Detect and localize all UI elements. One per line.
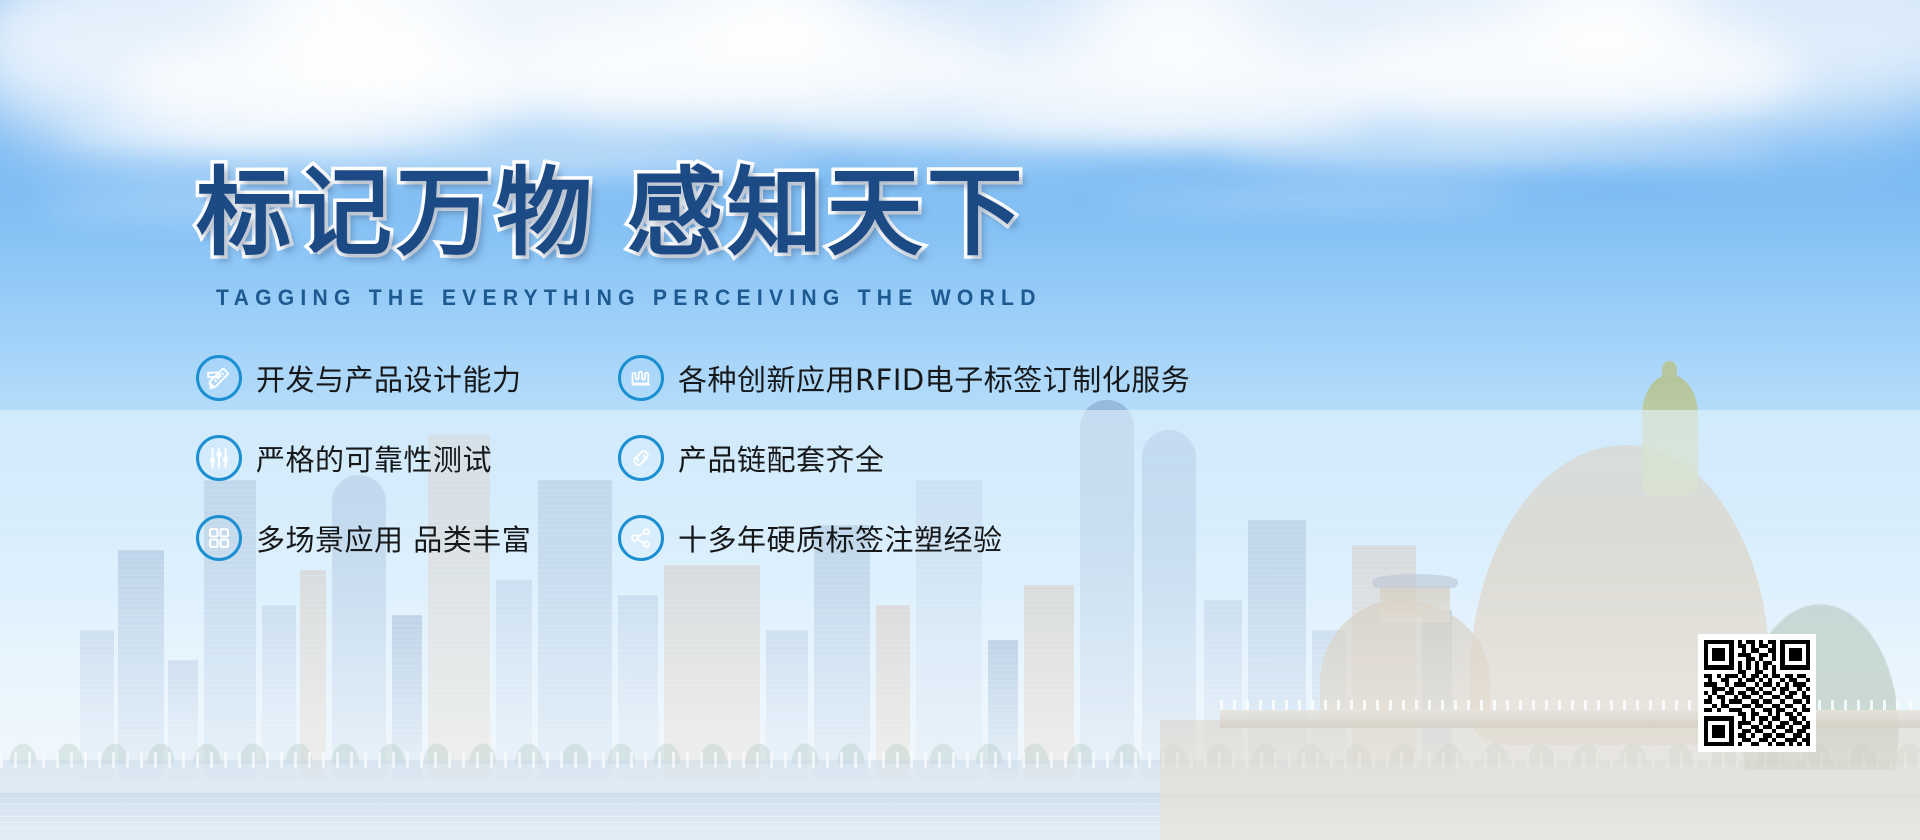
- feature-label: 开发与产品设计能力: [256, 357, 522, 399]
- feature-item: 严格的可靠性测试: [196, 432, 531, 484]
- feature-item: 十多年硬质标签注塑经验: [618, 512, 1190, 564]
- feature-item: 开发与产品设计能力: [196, 352, 531, 404]
- feature-item: 产品链配套齐全: [618, 432, 1190, 484]
- crown-icon: [618, 355, 664, 401]
- feature-label: 严格的可靠性测试: [256, 437, 492, 479]
- feature-item: 各种创新应用RFID电子标签订制化服务: [618, 352, 1190, 404]
- share-nodes-icon: [618, 515, 664, 561]
- grid-squares-icon: [196, 515, 242, 561]
- banner-subtitle: TAGGING THE EVERYTHING PERCEIVING THE WO…: [216, 285, 1042, 311]
- feature-label: 十多年硬质标签注塑经验: [678, 517, 1003, 559]
- qr-code[interactable]: [1698, 634, 1816, 752]
- feature-column-left: 开发与产品设计能力: [196, 352, 531, 592]
- qr-code-matrix: [1704, 640, 1810, 746]
- feature-label: 各种创新应用RFID电子标签订制化服务: [678, 357, 1190, 399]
- pencil-ruler-icon: [196, 355, 242, 401]
- feature-item: 多场景应用 品类丰富: [196, 512, 531, 564]
- feature-label: 多场景应用 品类丰富: [256, 517, 531, 559]
- banner-title: 标记万物 感知天下: [196, 160, 1027, 268]
- chain-link-icon: [618, 435, 664, 481]
- promo-banner: 标记万物 感知天下 TAGGING THE EVERYTHING PERCEIV…: [0, 0, 1920, 840]
- sliders-icon: [196, 435, 242, 481]
- feature-column-right: 各种创新应用RFID电子标签订制化服务 产品链配套齐全: [618, 352, 1190, 592]
- feature-label: 产品链配套齐全: [678, 437, 885, 479]
